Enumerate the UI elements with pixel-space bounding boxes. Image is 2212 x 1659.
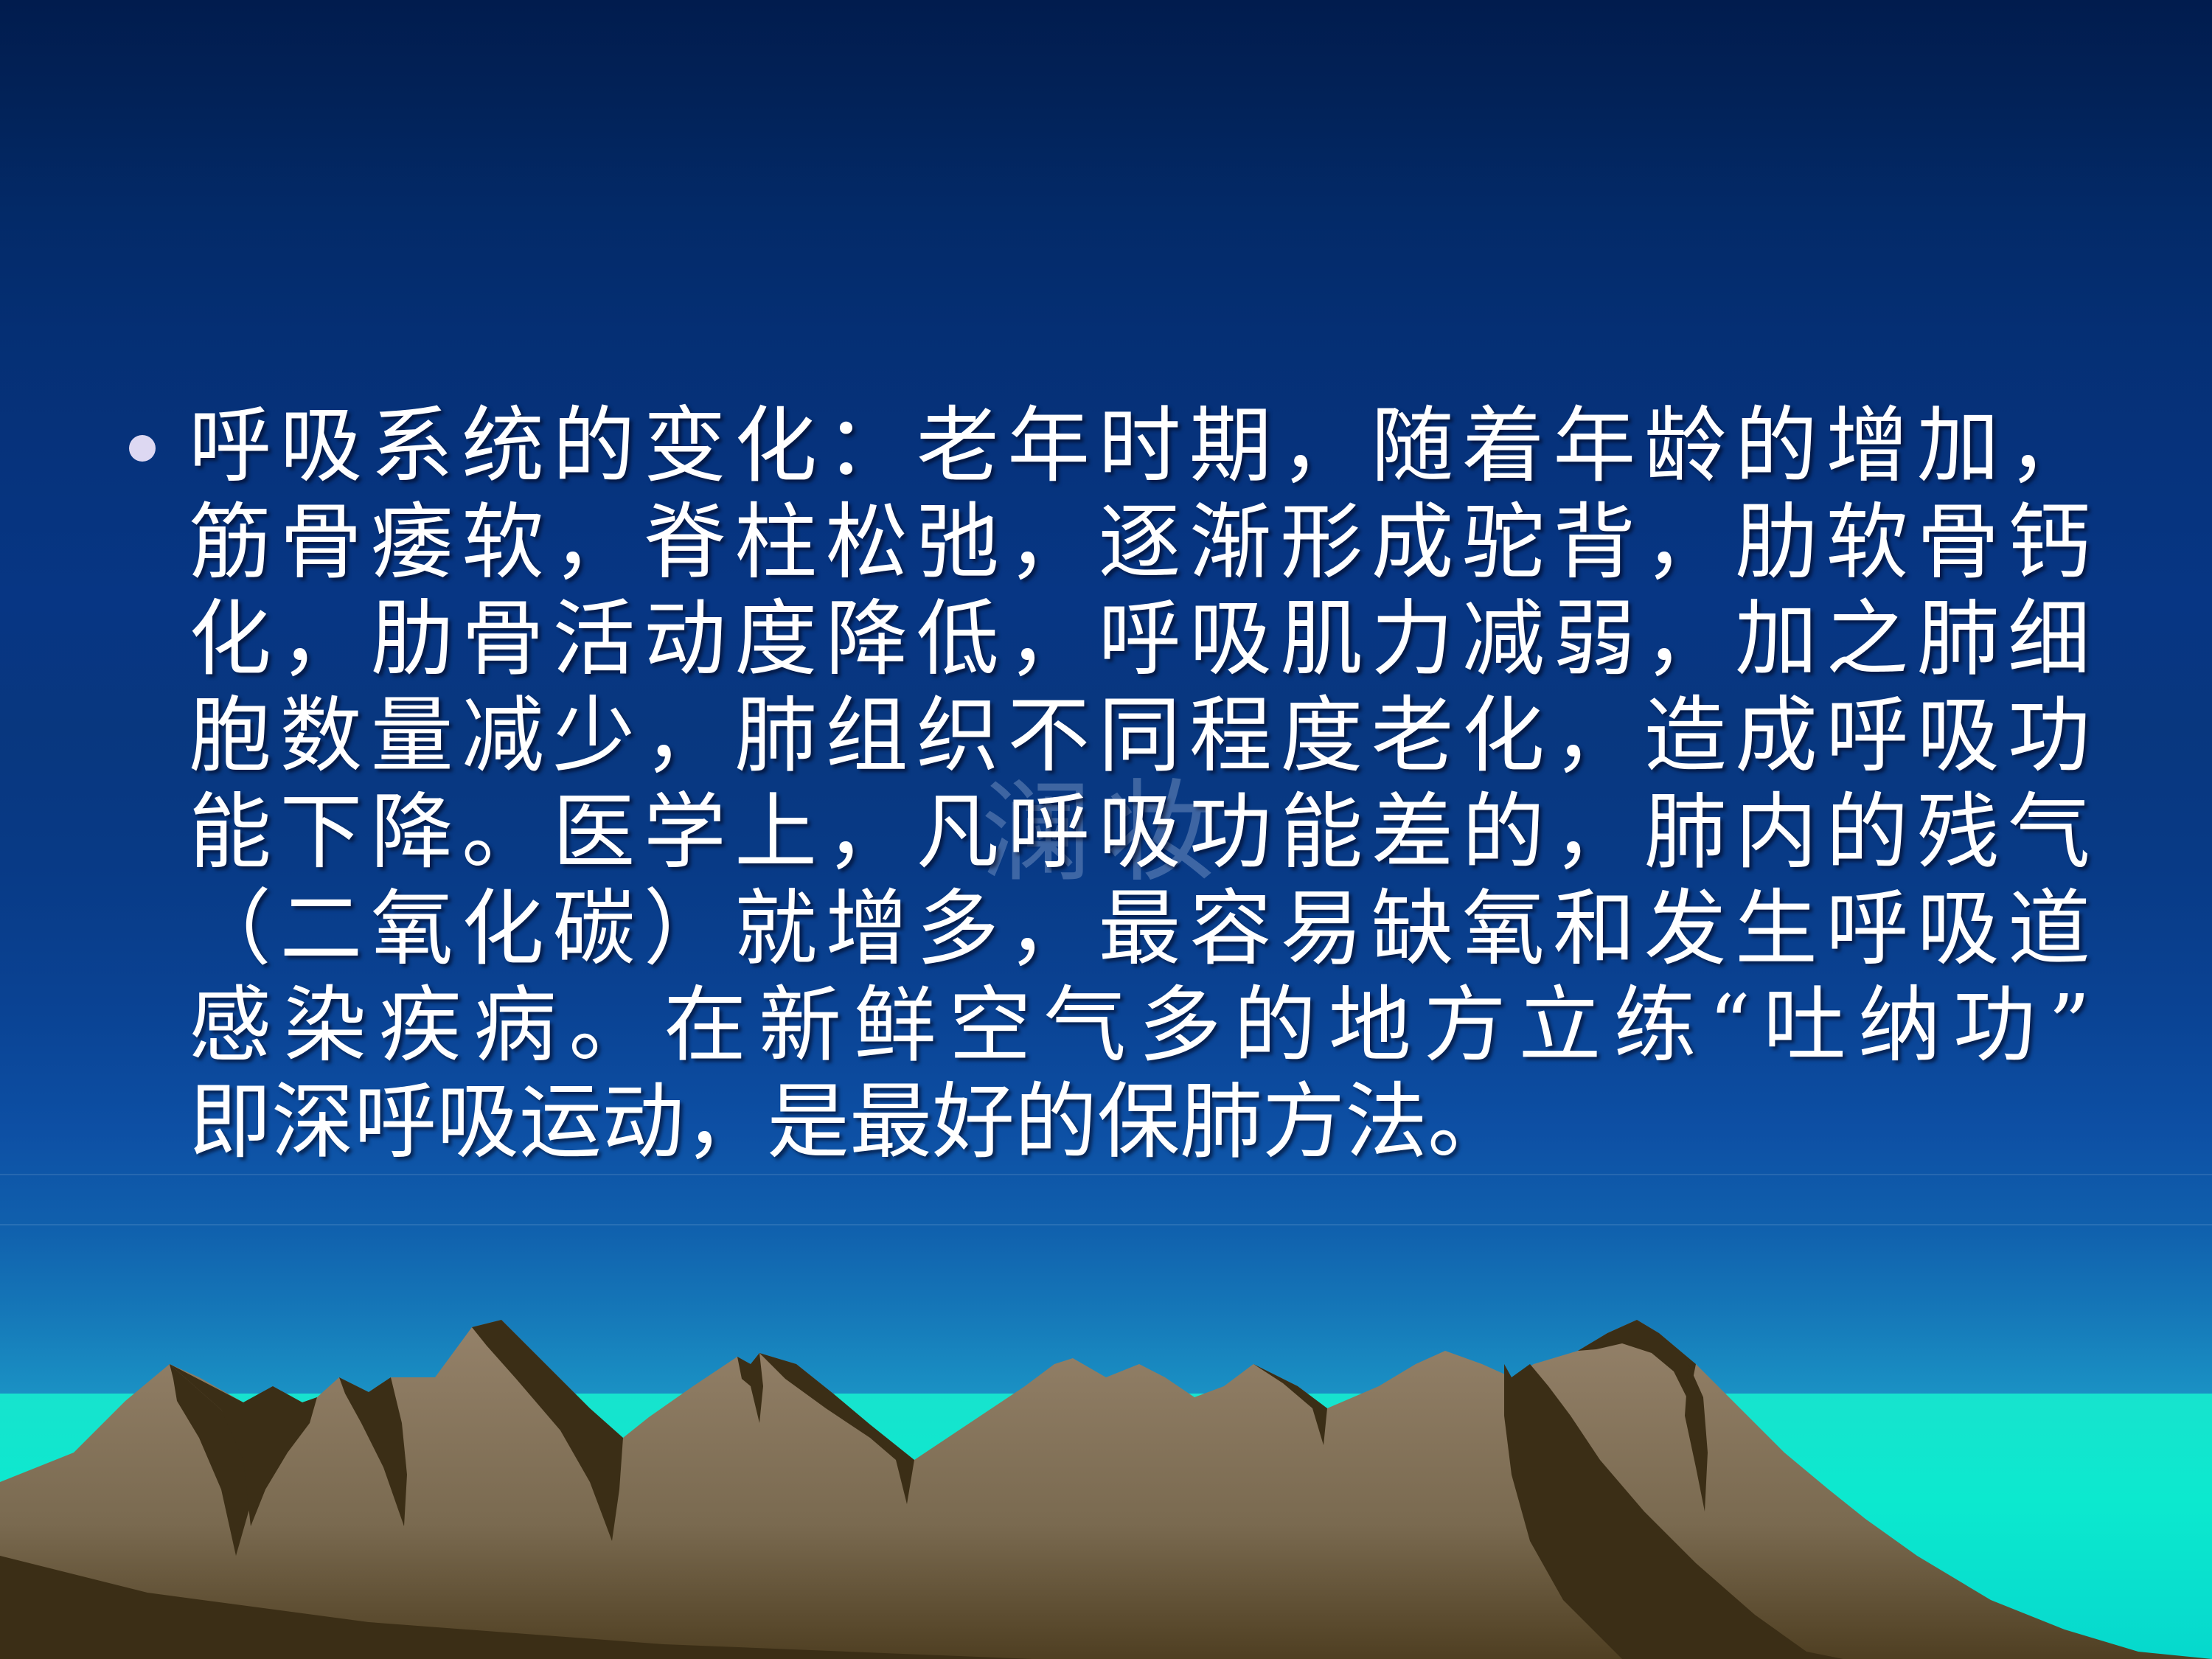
slide-body-text: 呼吸系统的变化：老年时期，随着年龄的增加， 筋骨痿软，脊柱松弛，逐渐形成驼背，肋… [129,398,2090,1171]
text-line-7: 感染疾病。在新鲜空气多的地方立练“吐纳功” [189,978,2090,1074]
mountain-lit-left [0,1320,2212,1659]
text-line-1: 呼吸系统的变化：老年时期，随着年龄的增加， [189,398,2090,495]
text-line-5: 能下降。医学上，凡呼吸功能差的，肺内的残气 [189,785,2090,881]
text-line-8: 即深呼吸运动，是最好的保肺方法。 [189,1074,2090,1171]
bullet-list-item: 呼吸系统的变化：老年时期，随着年龄的增加， 筋骨痿软，脊柱松弛，逐渐形成驼背，肋… [129,398,2090,1171]
text-line-6: （二氧化碳）就增多，最容易缺氧和发生呼吸道 [189,881,2090,978]
bullet-marker-icon [129,435,156,462]
text-line-4: 胞数量减少，肺组织不同程度老化，造成呼吸功 [189,688,2090,785]
mountain-range-illustration [0,1143,2212,1659]
text-line-2: 筋骨痿软，脊柱松弛，逐渐形成驼背，肋软骨钙 [189,495,2090,591]
presentation-slide: 澜妆 [0,0,2212,1659]
text-line-3: 化，肋骨活动度降低，呼吸肌力减弱，加之肺细 [189,591,2090,688]
paragraph-text: 呼吸系统的变化：老年时期，随着年龄的增加， 筋骨痿软，脊柱松弛，逐渐形成驼背，肋… [189,398,2090,1171]
